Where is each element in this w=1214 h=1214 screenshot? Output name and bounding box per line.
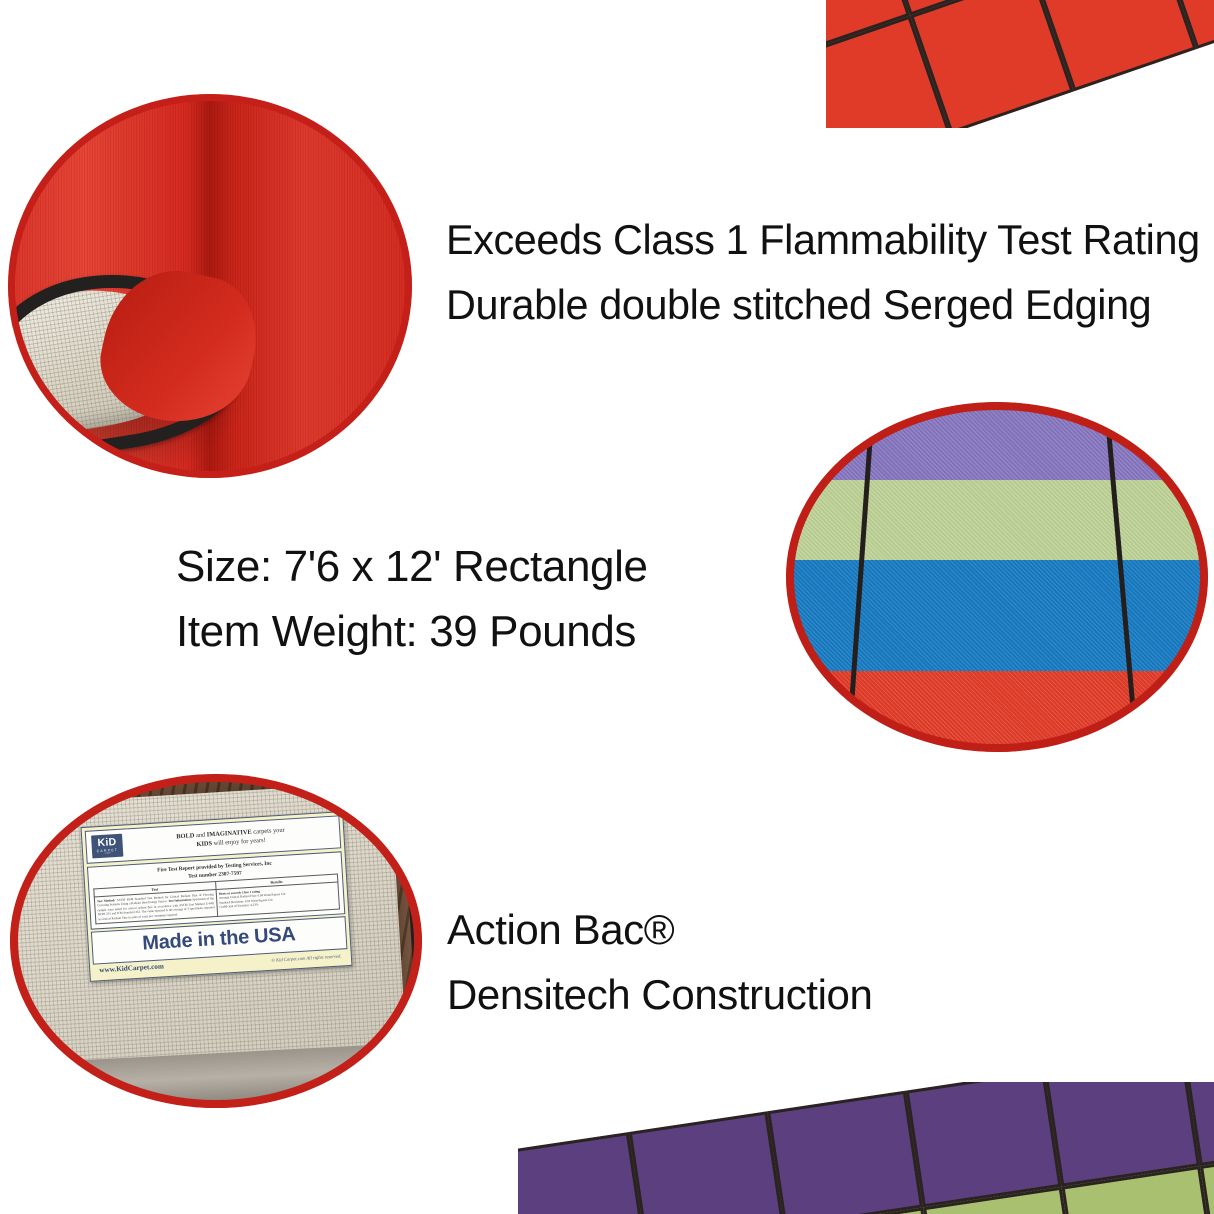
rug-stripe-light-green [793, 480, 1201, 561]
rug-tile [767, 1091, 923, 1214]
logo-kid-text: KiD [97, 837, 117, 849]
photo-carpet-backing-label: KiD CARPET .com BOLD and IMAGINATIVE car… [10, 774, 422, 1108]
tagline-bold-kids: KIDS [196, 840, 212, 848]
rug-tile [906, 1082, 1062, 1207]
feature-line-flammability: Exceeds Class 1 Flammability Test Rating [446, 208, 1200, 273]
cell-test-description: Test Method: ASTM E648 Standard Test Met… [94, 890, 217, 924]
label-tagline: BOLD and IMAGINATIVE carpets your KIDS w… [127, 824, 334, 854]
care-label: KiD CARPET .com BOLD and IMAGINATIVE car… [80, 812, 352, 983]
feature-line-serged-edging: Durable double stitched Serged Edging [446, 273, 1200, 338]
photo-red-carpet-folded-corner [8, 94, 412, 478]
rug-corner-top-right [826, 0, 1214, 128]
tagline-line1-end: carpets your [251, 827, 284, 836]
feature-text-flammability-and-edging: Exceeds Class 1 Flammability Test Rating… [446, 208, 1211, 337]
cell-test-results: Meets or exceeds Class 1 rating Average … [216, 883, 339, 917]
tagline-bold-bold: BOLD [176, 832, 195, 840]
logo-dotcom-text: .com [104, 853, 111, 856]
rug-tile [629, 1111, 785, 1214]
feature-line-size: Size: 7'6 x 12' Rectangle [176, 535, 648, 600]
tagline-mid: and [194, 832, 207, 840]
infographic-canvas: KiD CARPET .com BOLD and IMAGINATIVE car… [0, 0, 1214, 1214]
label-photo-scene: KiD CARPET .com BOLD and IMAGINATIVE car… [17, 781, 415, 1101]
rug-stripe-purple [793, 409, 1201, 480]
kid-carpet-logo: KiD CARPET .com [91, 834, 123, 859]
website-url: www.KidCarpet.com [99, 963, 164, 975]
feature-line-action-bac: Action Bac® [447, 897, 872, 962]
feature-text-action-bac-densitech: Action Bac® Densitech Construction [447, 897, 872, 1027]
rug-corner-bottom-right [518, 1082, 1214, 1214]
copyright-notice: © Kid Carpet.com All rights reserved. [271, 954, 341, 963]
photo-striped-rug [786, 402, 1208, 752]
tagline-line2-end: will enjoy for years! [212, 837, 266, 847]
feature-line-densitech: Densitech Construction [447, 962, 872, 1027]
feature-line-weight: Item Weight: 39 Pounds [176, 600, 648, 665]
feature-text-size-and-weight: Size: 7'6 x 12' Rectangle Item Weight: 3… [176, 535, 648, 664]
rug-tile [518, 1132, 646, 1214]
rug-stripe-stack [793, 409, 1201, 745]
